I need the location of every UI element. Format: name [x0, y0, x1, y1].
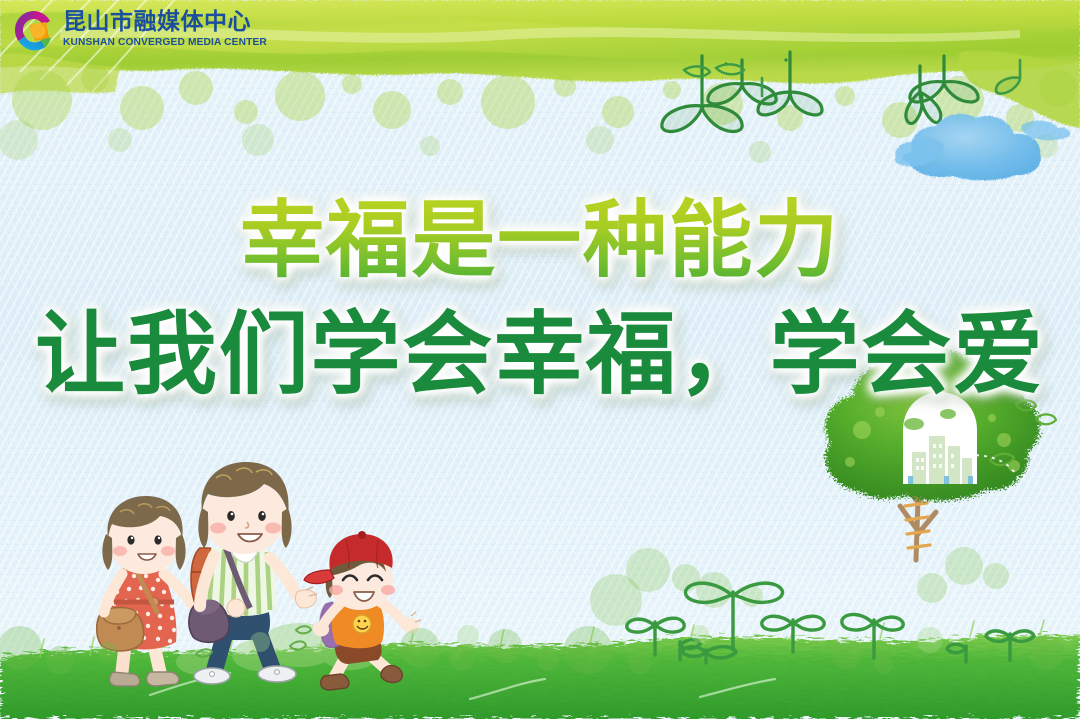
logo-wordmark: 昆山市融媒体中心 KUNSHAN CONVERGED MEDIA CENTER [63, 11, 267, 48]
banner-canvas: 幸福是一种能力 让我们学会幸福，学会爱 [0, 0, 1080, 719]
media-center-ring-icon [12, 8, 56, 52]
decorative-bubbles-bottom [0, 0, 1080, 719]
logo-chinese-name: 昆山市融媒体中心 [63, 11, 267, 34]
logo-english-name: KUNSHAN CONVERGED MEDIA CENTER [63, 38, 267, 48]
brand-logo[interactable]: 昆山市融媒体中心 KUNSHAN CONVERGED MEDIA CENTER [12, 8, 267, 52]
